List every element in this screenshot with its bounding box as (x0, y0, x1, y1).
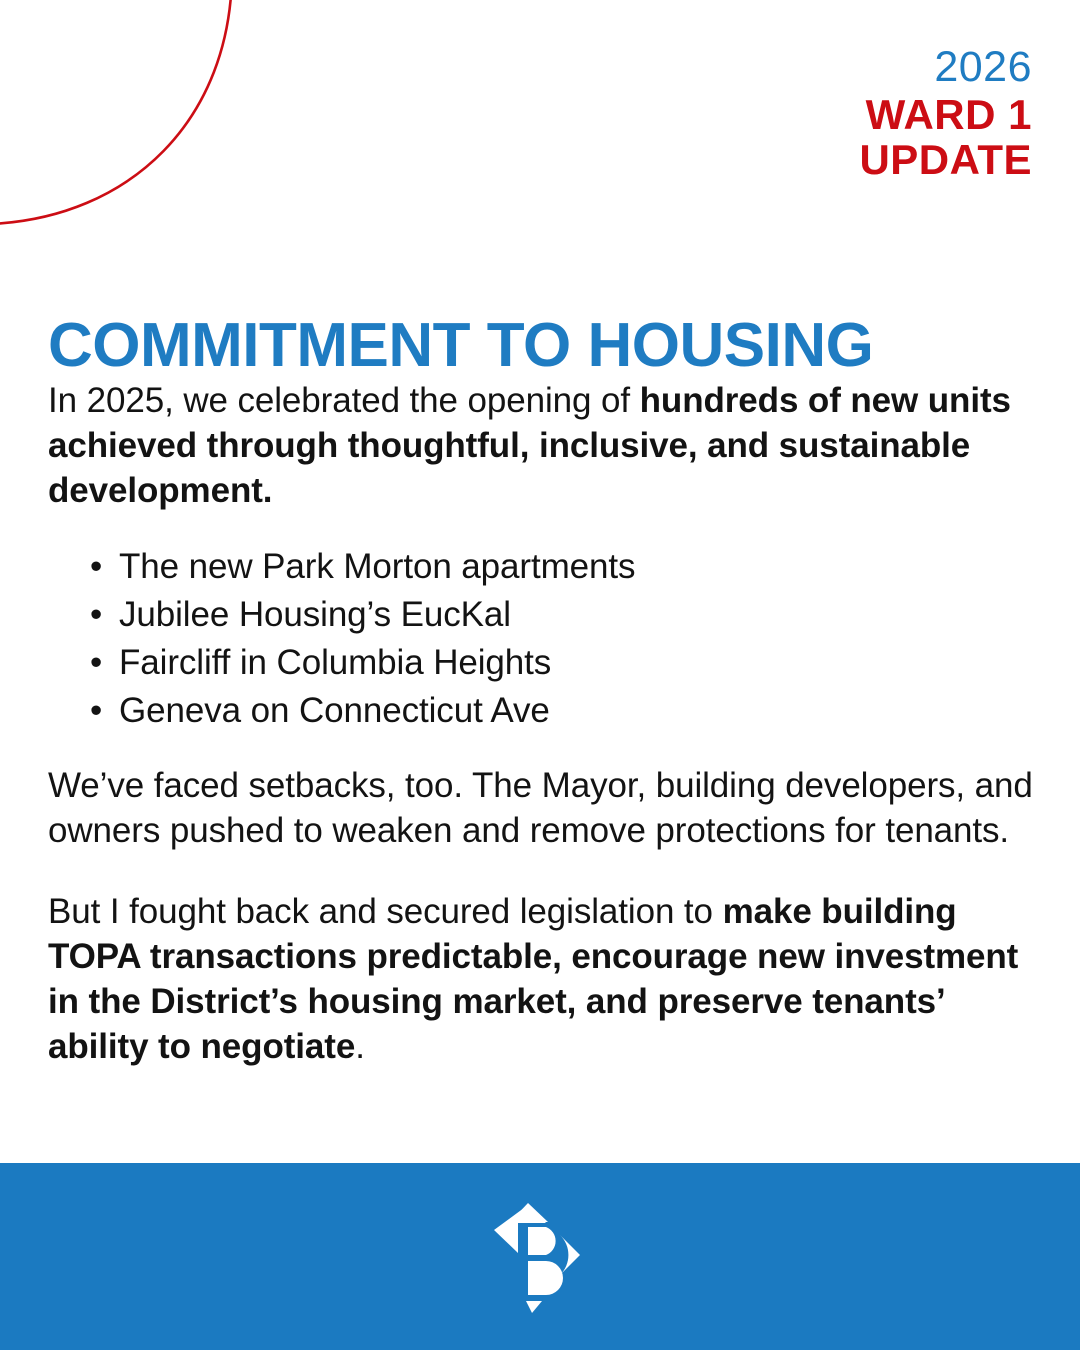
list-item-label: Geneva on Connecticut Ave (119, 691, 550, 730)
header-year: 2026 (859, 46, 1032, 89)
list-item-label: Jubilee Housing’s EucKal (119, 595, 511, 634)
housing-project-list: The new Park Morton apartments Jubilee H… (48, 543, 1038, 735)
list-item: Jubilee Housing’s EucKal (90, 591, 1038, 639)
paragraph-setbacks: We’ve faced setbacks, too. The Mayor, bu… (48, 763, 1038, 853)
intro-plain-text: In 2025, we celebrated the opening of (48, 381, 640, 420)
body-content: In 2025, we celebrated the opening of hu… (48, 378, 1038, 1069)
diamond-b-logo-icon (484, 1197, 596, 1317)
page-title: COMMITMENT TO HOUSING (48, 310, 873, 381)
footer-band (0, 1163, 1080, 1350)
list-item: Geneva on Connecticut Ave (90, 687, 1038, 735)
header-update-label: UPDATE (859, 139, 1032, 181)
legislation-plain-tail: . (355, 1027, 365, 1066)
list-item-label: The new Park Morton apartments (119, 547, 635, 586)
legislation-plain-lead: But I fought back and secured legislatio… (48, 892, 723, 931)
header-eyebrow: 2026 WARD 1 UPDATE (859, 46, 1032, 184)
list-item-label: Faircliff in Columbia Heights (119, 643, 551, 682)
list-item: The new Park Morton apartments (90, 543, 1038, 591)
paragraph-intro: In 2025, we celebrated the opening of hu… (48, 378, 1038, 513)
header-ward-label: WARD 1 (859, 94, 1032, 136)
paragraph-legislation: But I fought back and secured legislatio… (48, 889, 1038, 1069)
decorative-arc (0, 0, 260, 240)
list-item: Faircliff in Columbia Heights (90, 639, 1038, 687)
